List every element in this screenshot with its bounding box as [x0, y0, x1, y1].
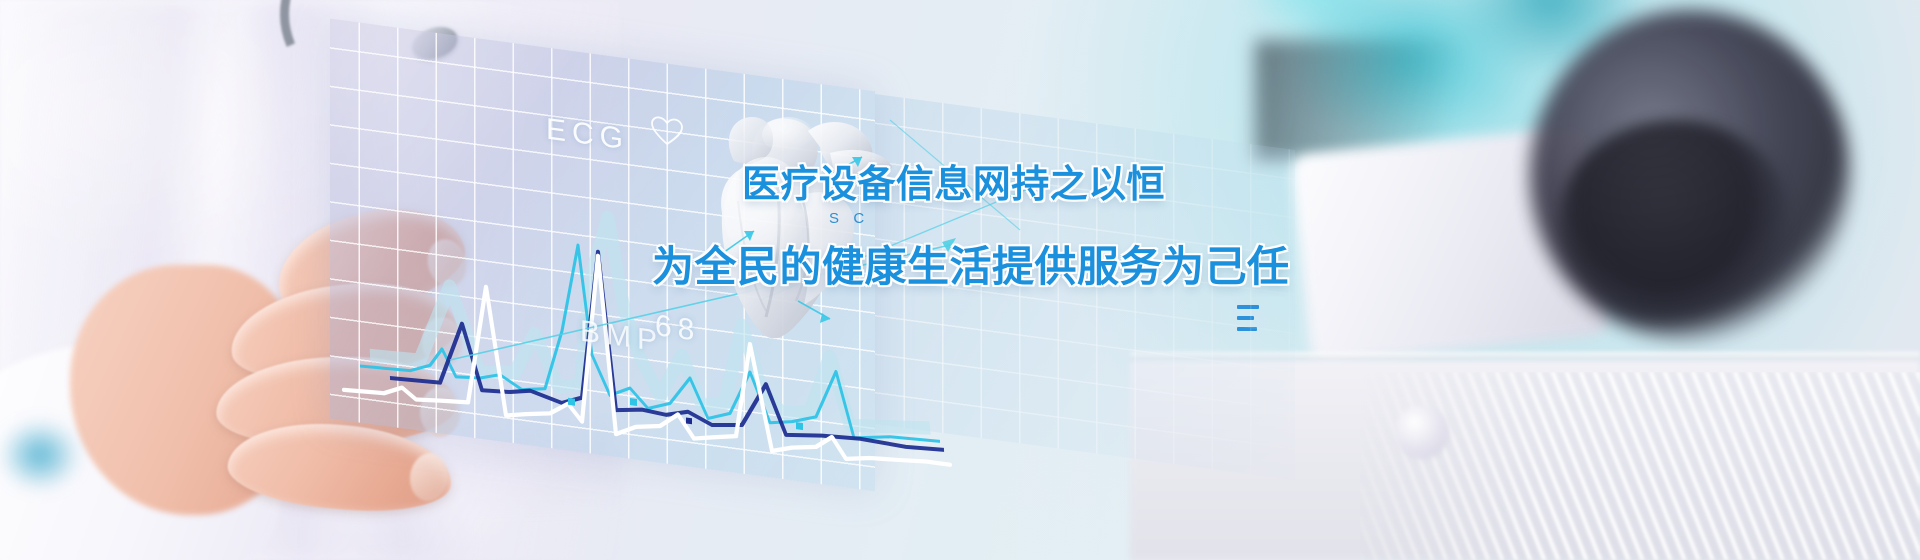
bench-ruled-pattern: [1360, 372, 1920, 560]
microscope-lens: [1560, 120, 1790, 320]
bench-knob: [1395, 405, 1449, 459]
medical-banner: ECG BMP 68 S C 医疗设备信息网持之以恒 为全民的健康生活提供服务为…: [0, 0, 1920, 560]
teal-glassware-blur: [0, 420, 80, 490]
heart-outline-icon: [650, 114, 684, 149]
sc-label: S C: [829, 210, 869, 227]
anatomical-heart-3d: [680, 105, 895, 370]
bmp-value: 68: [655, 309, 700, 349]
